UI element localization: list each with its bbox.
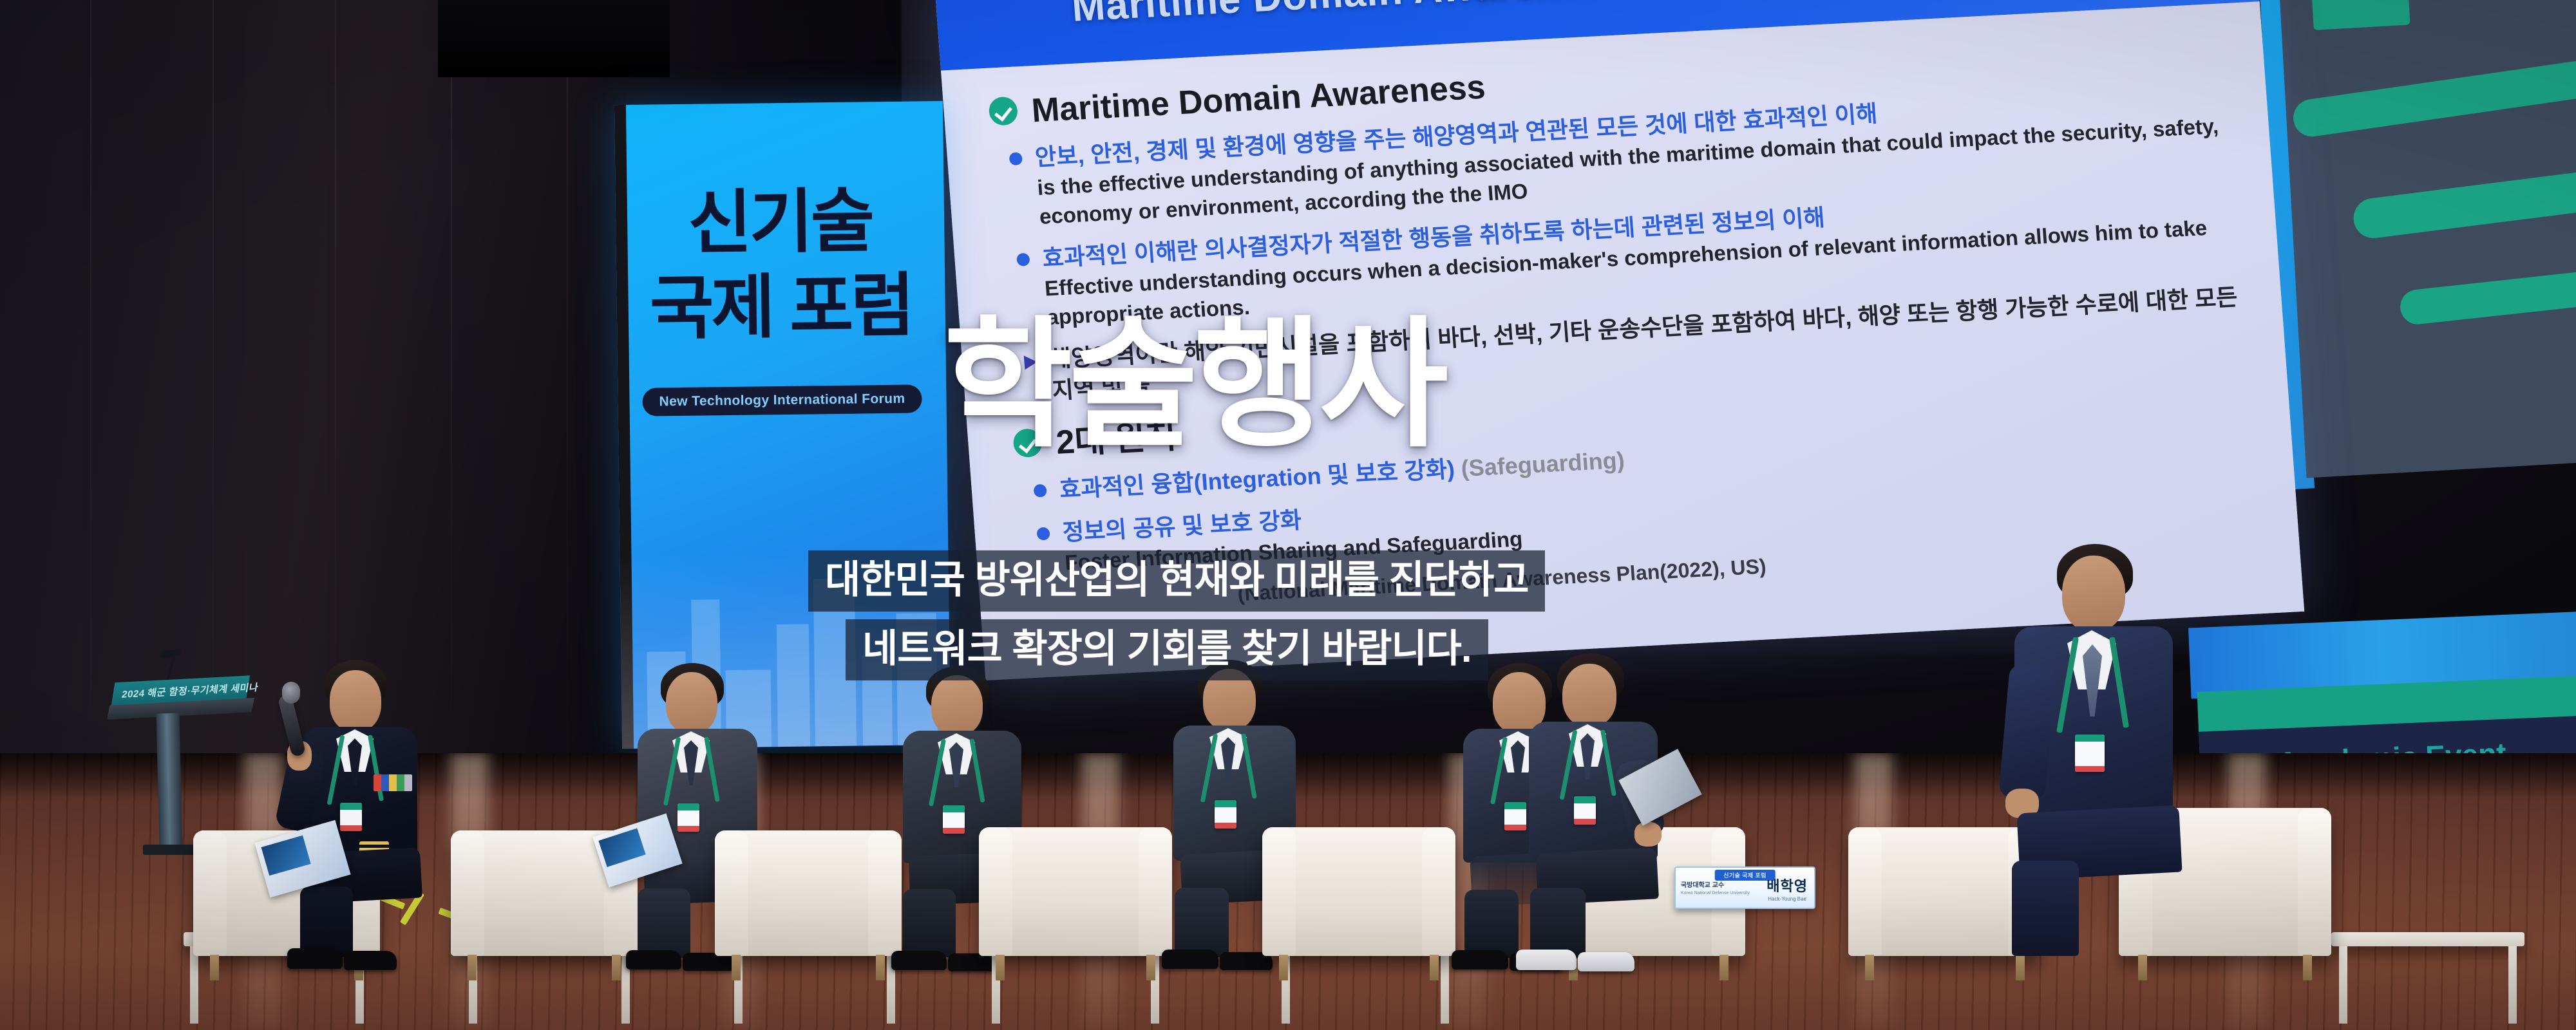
armchair	[715, 830, 902, 956]
podium-stem	[156, 713, 182, 849]
panelist-6	[1507, 653, 1700, 956]
dot-bullet-icon	[1036, 527, 1050, 541]
subtitle-block: 대한민국 방위산업의 현재와 미래를 진단하고 네트워크 확장의 기회를 찾기 …	[808, 550, 1545, 680]
panelist-7	[2003, 544, 2222, 956]
name-badge	[2075, 735, 2105, 772]
decorative-graphic-panel	[2279, 0, 2576, 478]
name-badge	[943, 805, 965, 834]
armchair	[979, 827, 1172, 956]
nameplate-name: 배학영 Hack-Young Bae	[1766, 875, 1808, 902]
service-ribbons	[374, 774, 412, 791]
shoe	[287, 948, 343, 969]
shoe	[344, 951, 397, 970]
name-badge	[1574, 796, 1596, 825]
podium-label: 2024 해군 함정·무기체계 세미나	[121, 680, 260, 701]
subtitle-line-1: 대한민국 방위산업의 현재와 미래를 진단하고	[808, 550, 1545, 612]
panelist-naval-officer	[277, 660, 457, 956]
banner-subtitle-en: New Technology International Forum	[642, 384, 922, 416]
slide-row-text-en: (Safeguarding)	[1460, 447, 1625, 482]
page-title: 학술행사	[943, 315, 1444, 456]
name-badge	[1215, 800, 1236, 829]
conference-stage-photo: Maritime Domain Awareness Maritime Domai…	[0, 0, 2576, 1030]
dot-bullet-icon	[1009, 153, 1023, 166]
ceiling-edge	[438, 0, 670, 77]
banner-title-line1: 신기술	[687, 182, 873, 261]
sneaker	[1516, 950, 1577, 970]
dot-bullet-icon	[1033, 484, 1046, 498]
slide-header-title: Maritime Domain Awareness	[1070, 0, 1631, 31]
dot-bullet-icon	[1016, 253, 1030, 267]
armchair	[1262, 827, 1455, 956]
check-icon	[988, 97, 1018, 126]
leg	[300, 886, 353, 957]
subtitle-line-2: 네트워크 확장의 기회를 찾기 바랍니다.	[846, 619, 1488, 680]
name-badge	[677, 803, 699, 832]
banner-title: 신기술 국제 포럼	[615, 185, 945, 345]
microphone-head	[282, 682, 300, 704]
hand	[1634, 822, 1662, 847]
sneaker	[1578, 952, 1634, 971]
banner-title-line2: 국제 포럼	[616, 270, 945, 344]
side-table	[2331, 932, 2524, 946]
slide-row-heading: Maritime Domain Awareness	[1030, 68, 1487, 131]
name-badge	[340, 803, 362, 831]
